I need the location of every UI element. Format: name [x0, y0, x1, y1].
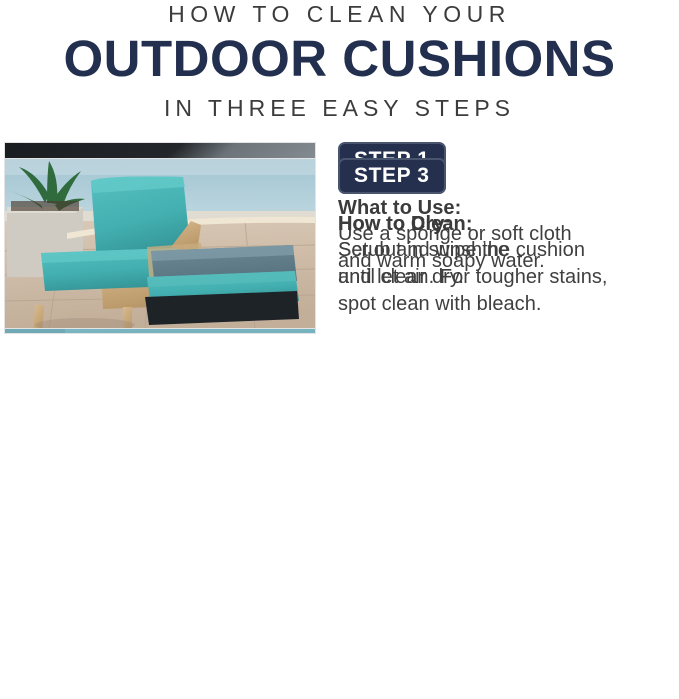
step-3-badge: STEP 3 — [338, 158, 446, 194]
step-3-image — [4, 158, 316, 329]
step-3-text: STEP 3 How to Dry: Set out in sunshine a… — [338, 158, 679, 291]
header-kicker: HOW TO CLEAN YOUR — [0, 0, 679, 27]
step-3-title: How to Dry: — [338, 211, 679, 237]
infographic-header: HOW TO CLEAN YOUR OUTDOOR CUSHIONS IN TH… — [0, 0, 679, 121]
step-3-body: Set out in sunshine and let air dry. — [338, 237, 679, 291]
steps-list: STEP 1 What to Use: Use a sponge or soft… — [0, 142, 679, 158]
header-subtitle: IN THREE EASY STEPS — [0, 86, 679, 121]
page-title: OUTDOOR CUSHIONS — [0, 27, 679, 86]
lounge-chair-photo — [5, 159, 315, 328]
